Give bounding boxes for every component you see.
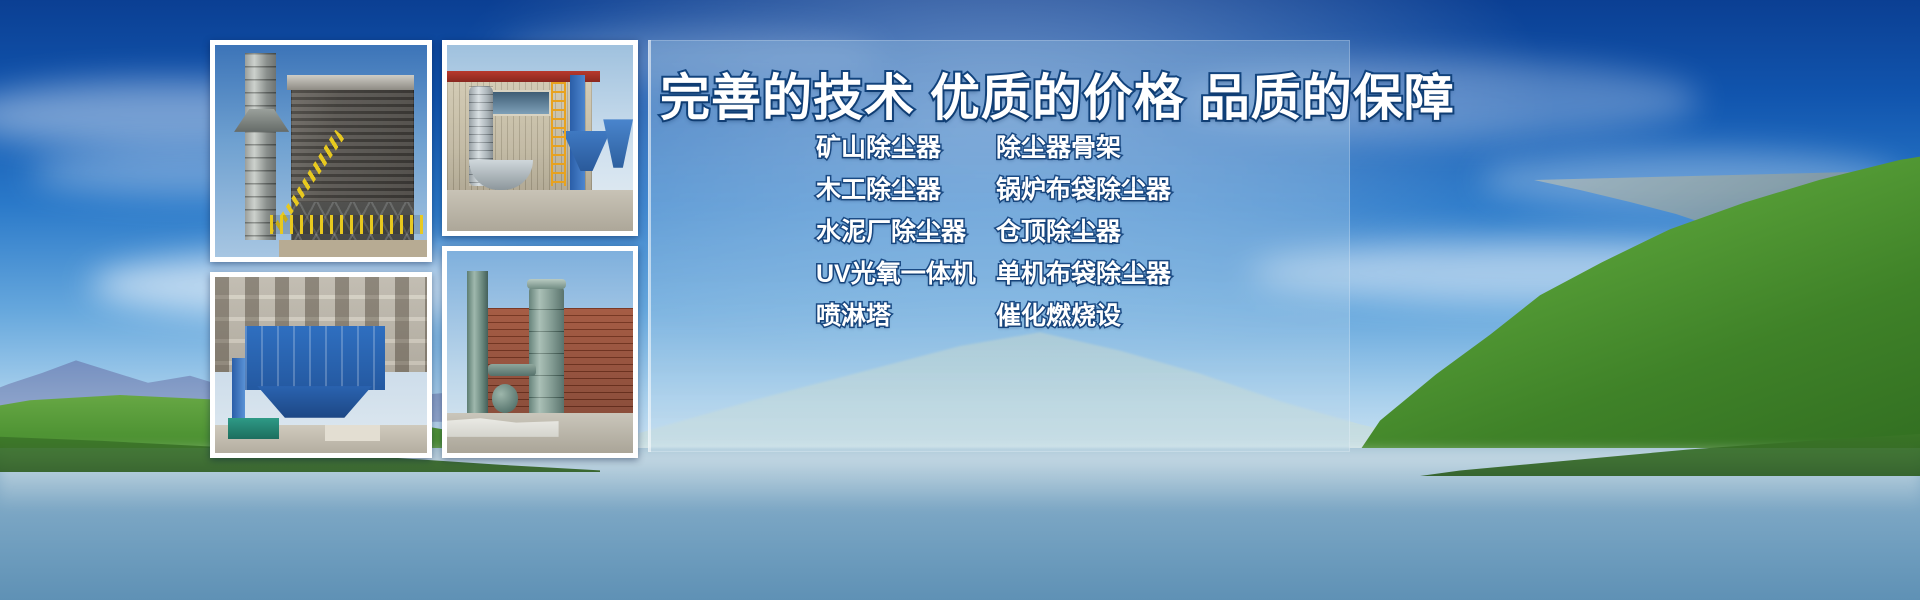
photo1-stack [245, 53, 277, 240]
product-item[interactable]: 锅炉布袋除尘器 [996, 170, 1171, 206]
photo4-fan-housing [492, 384, 518, 412]
product-item[interactable]: 单机布袋除尘器 [996, 254, 1171, 290]
product-item[interactable]: 催化燃烧设 [996, 296, 1121, 332]
product-list: 矿山除尘器 除尘器骨架 木工除尘器 锅炉布袋除尘器 水泥厂除尘器 仓顶除尘器 U… [816, 128, 1350, 338]
product-item[interactable]: 水泥厂除尘器 [816, 212, 996, 248]
product-row: UV光氧一体机 单机布袋除尘器 [816, 254, 1350, 296]
product-photo-3[interactable] [210, 272, 432, 458]
photo3-blue-collector [245, 326, 385, 389]
promo-banner: 完善的技术 优质的价格 品质的保障 矿山除尘器 除尘器骨架 木工除尘器 锅炉布袋… [0, 0, 1920, 600]
photo1-roof [287, 75, 414, 90]
product-item[interactable]: 喷淋塔 [816, 296, 996, 332]
photo4-connecting-pipe [488, 364, 536, 376]
photo1-concrete-base [279, 240, 427, 257]
photo4-scrubber-tower [529, 287, 564, 416]
photo3-teal-duct [228, 418, 279, 439]
product-item[interactable]: 木工除尘器 [816, 170, 996, 206]
product-photo-4[interactable] [442, 246, 638, 458]
product-row: 水泥厂除尘器 仓顶除尘器 [816, 212, 1350, 254]
photo2-ground [447, 190, 633, 231]
photo1-yellow-railing [270, 215, 423, 234]
product-photo-2[interactable] [442, 40, 638, 236]
product-row: 木工除尘器 锅炉布袋除尘器 [816, 170, 1350, 212]
product-item[interactable]: 除尘器骨架 [996, 128, 1121, 164]
photo3-concrete-pad [325, 425, 380, 441]
banner-headline: 完善的技术 优质的价格 品质的保障 [660, 58, 1350, 130]
product-item[interactable]: 矿山除尘器 [816, 128, 996, 164]
product-photo-1[interactable] [210, 40, 432, 262]
photo4-tower-cap [527, 279, 566, 289]
product-row: 矿山除尘器 除尘器骨架 [816, 128, 1350, 170]
text-panel-left-edge [648, 40, 651, 452]
photo4-stack [467, 271, 487, 416]
photo2-window [488, 90, 551, 116]
product-row: 喷淋塔 催化燃烧设 [816, 296, 1350, 338]
photo2-ladder [551, 82, 566, 186]
product-item[interactable]: UV光氧一体机 [816, 254, 996, 290]
product-item[interactable]: 仓顶除尘器 [996, 212, 1121, 248]
